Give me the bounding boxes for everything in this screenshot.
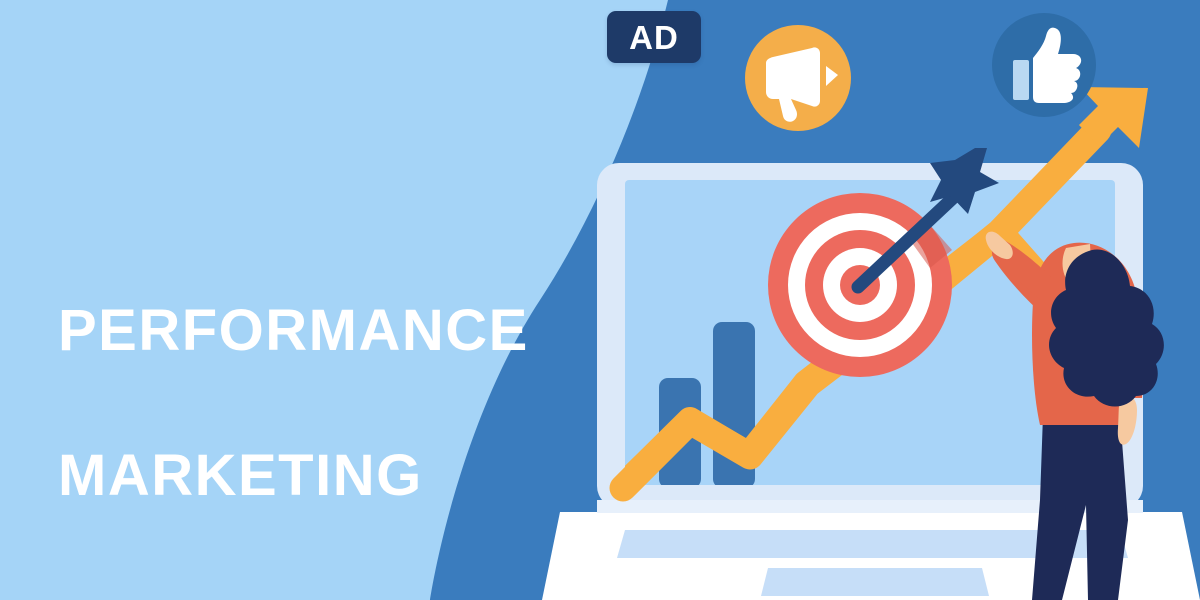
megaphone-icon[interactable] bbox=[745, 25, 851, 131]
thumbs-up-icon-cuff bbox=[1013, 60, 1029, 100]
ad-badge[interactable]: AD bbox=[607, 11, 701, 63]
thumbs-up-icon[interactable] bbox=[992, 13, 1096, 117]
page-title: PERFORMANCE MARKETING bbox=[58, 222, 578, 585]
performance-marketing-banner: PERFORMANCE MARKETING AD bbox=[0, 0, 1200, 600]
headline-line-2: MARKETING bbox=[58, 440, 578, 513]
ad-badge-label: AD bbox=[629, 21, 679, 54]
headline-line-1: PERFORMANCE bbox=[58, 295, 578, 368]
